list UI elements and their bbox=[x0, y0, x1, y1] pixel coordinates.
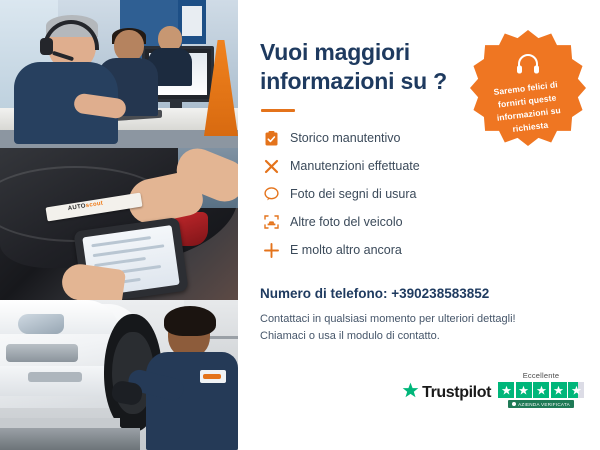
list-item[interactable]: Altre foto del veicolo bbox=[260, 209, 576, 236]
rating-label: Eccellente bbox=[523, 371, 560, 380]
contact-instructions: Contattaci in qualsiasi momento per ulte… bbox=[260, 311, 576, 345]
headset-icon bbox=[516, 54, 540, 79]
phone-number[interactable]: +390238583852 bbox=[391, 286, 489, 301]
fog-light-strip bbox=[28, 372, 82, 382]
call-center-agents-photo bbox=[0, 0, 238, 148]
photo-column: AUTOscout bbox=[0, 0, 238, 450]
phone-block: Numero di telefono: +390238583852 Contat… bbox=[260, 286, 576, 345]
vehicle-inspection-tablet-photo: AUTOscout bbox=[0, 148, 238, 300]
service-badge: Saremo felici di fornirti queste informa… bbox=[470, 30, 586, 146]
trustpilot-rating[interactable]: Trustpilot Eccellente bbox=[402, 371, 584, 408]
uniform-logo bbox=[200, 370, 226, 383]
list-item-label: Manutenzioni effettuate bbox=[290, 159, 420, 173]
car-headlight bbox=[18, 314, 64, 334]
trustpilot-wordmark: Trustpilot bbox=[422, 384, 491, 402]
star-filled bbox=[533, 382, 549, 398]
star-partial bbox=[568, 382, 584, 398]
list-item[interactable]: Foto dei segni di usura bbox=[260, 181, 576, 208]
phone-label: Numero di telefono: bbox=[260, 286, 388, 301]
list-item-label: Storico manutentivo bbox=[290, 131, 400, 145]
verified-badge: AZIENDA VERIFICATA bbox=[508, 400, 574, 408]
list-item-label: Foto dei segni di usura bbox=[290, 187, 416, 201]
lift-pad bbox=[0, 418, 120, 428]
vehicle-lift bbox=[0, 428, 140, 450]
star-rating bbox=[498, 382, 584, 398]
content-panel: Vuoi maggioriinformazioni su ? Saremo fe… bbox=[238, 0, 600, 450]
contact-line-2: Chiamaci o usa il modulo di contatto. bbox=[260, 328, 576, 345]
mechanic-tire-inspection-photo bbox=[0, 300, 238, 450]
tools-cross-icon bbox=[260, 159, 282, 174]
trustpilot-score: Eccellente bbox=[498, 371, 584, 408]
contact-line-1: Contattaci in qualsiasi momento per ulte… bbox=[260, 311, 576, 328]
mechanic-figure bbox=[146, 308, 238, 450]
list-item-label: E molto altro ancora bbox=[290, 243, 402, 257]
title-divider bbox=[261, 109, 295, 112]
star-filled bbox=[551, 382, 567, 398]
promo-banner: AUTOscout bbox=[0, 0, 600, 450]
list-item-label: Altre foto del veicolo bbox=[290, 215, 403, 229]
phone-number-line[interactable]: Numero di telefono: +390238583852 bbox=[260, 286, 576, 301]
speech-bubble-icon bbox=[260, 187, 282, 201]
list-item[interactable]: E molto altro ancora bbox=[260, 237, 576, 264]
verified-check-icon bbox=[512, 402, 516, 406]
star-filled bbox=[516, 382, 532, 398]
car-scan-icon bbox=[260, 215, 282, 229]
badge-text: Saremo felici di fornirti queste informa… bbox=[482, 77, 574, 139]
page-title: Vuoi maggioriinformazioni su ? bbox=[260, 38, 460, 97]
list-item[interactable]: Manutenzioni effettuate bbox=[260, 153, 576, 180]
verified-label: AZIENDA VERIFICATA bbox=[518, 402, 570, 407]
plus-icon bbox=[260, 243, 282, 258]
clipboard-check-icon bbox=[260, 131, 282, 146]
star-filled bbox=[498, 382, 514, 398]
trustpilot-logo: Trustpilot bbox=[402, 382, 491, 408]
foreground-agent bbox=[14, 18, 118, 140]
trustpilot-star-icon bbox=[402, 382, 419, 404]
car-grille bbox=[6, 344, 78, 362]
